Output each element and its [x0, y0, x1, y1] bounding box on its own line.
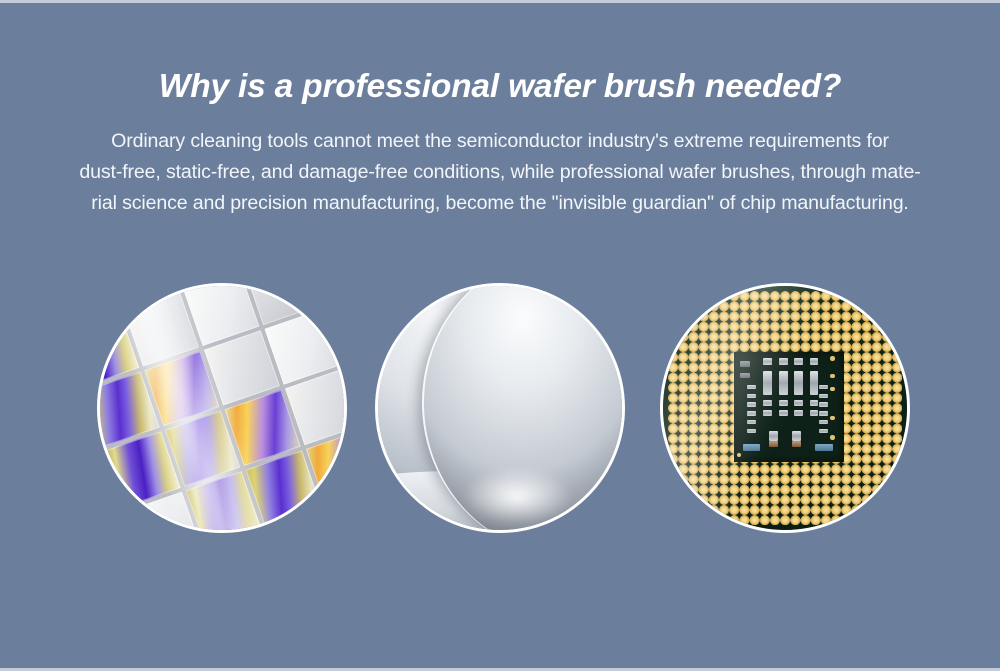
silicon-wafer-image — [375, 283, 625, 533]
wafer-specular-highlight — [461, 467, 573, 526]
card-chip: Chip — [660, 283, 910, 533]
cpu-chip-image — [660, 283, 910, 533]
cpu-substrate — [663, 286, 907, 530]
page-title: Why is a professional wafer brush needed… — [0, 68, 1000, 106]
cpu-core-area — [734, 352, 844, 462]
wafer-die-grid-image — [97, 283, 347, 533]
top-edge-strip — [0, 0, 1000, 3]
wafer-scene — [378, 286, 622, 530]
card-silicon-wafer: Silicon Wafer — [375, 283, 625, 533]
promo-banner: Why is a professional wafer brush needed… — [0, 0, 1000, 671]
description-line-3: rial science and precision manufacturing… — [50, 188, 950, 219]
description-line-1: Ordinary cleaning tools cannot meet the … — [50, 126, 950, 157]
die-grid — [97, 283, 347, 533]
card-wafer: Wafer — [97, 283, 347, 533]
page-description: Ordinary cleaning tools cannot meet the … — [50, 126, 950, 219]
description-line-2: dust-free, static-free, and damage-free … — [50, 157, 950, 188]
